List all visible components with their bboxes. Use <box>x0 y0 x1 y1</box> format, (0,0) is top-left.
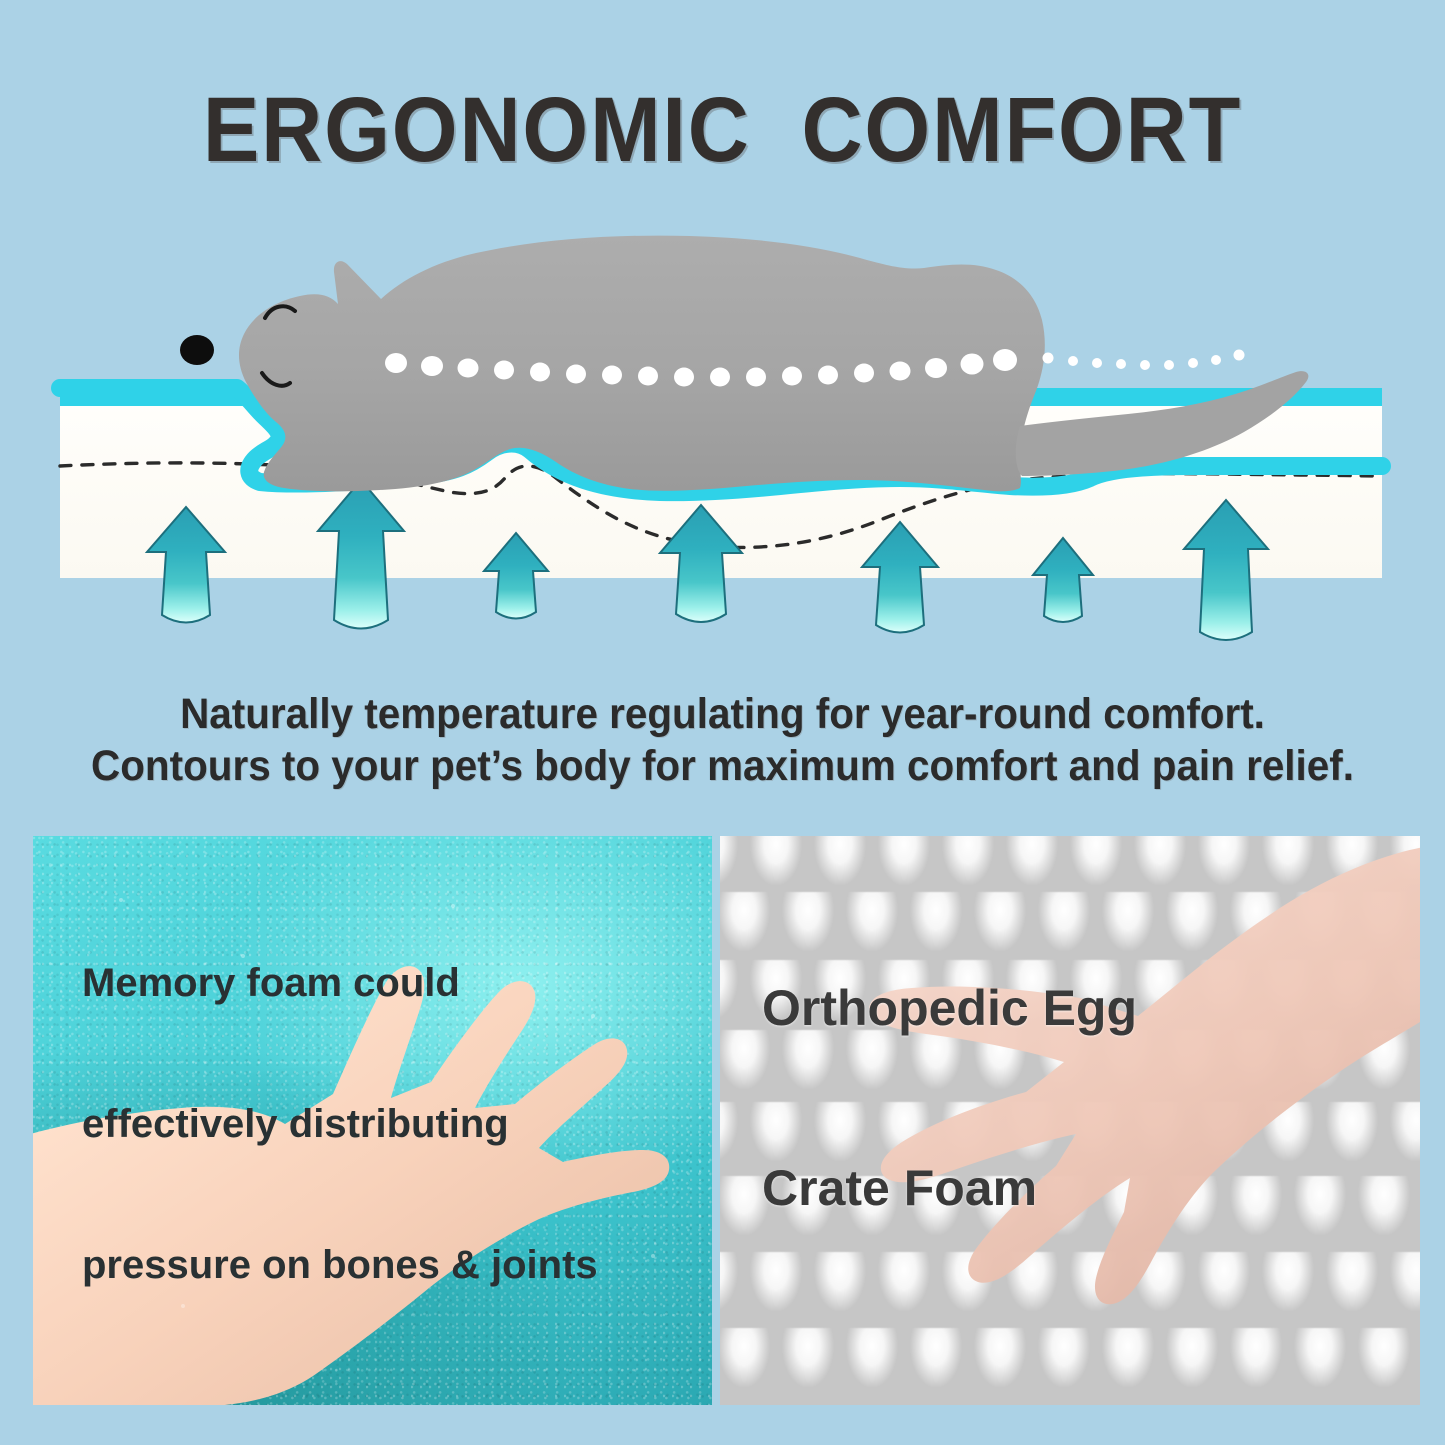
dog-silhouette <box>180 236 1308 492</box>
subcaption-line-1: Naturally temperature regulating for yea… <box>43 688 1401 740</box>
ergonomic-illustration <box>0 200 1445 670</box>
egg-crate-caption-line-2: Crate Foam <box>762 1158 1137 1218</box>
egg-crate-caption: Orthopedic Egg Crate Foam <box>762 858 1137 1338</box>
subcaption-line-2: Contours to your pet’s body for maximum … <box>43 740 1401 792</box>
memory-foam-caption-line-1: Memory foam could <box>82 960 598 1007</box>
dog-tail-dots <box>1043 350 1245 371</box>
memory-foam-caption-line-2: effectively distributing <box>82 1101 598 1148</box>
memory-foam-caption: Memory foam could effectively distributi… <box>82 866 598 1383</box>
egg-crate-caption-line-1: Orthopedic Egg <box>762 978 1137 1038</box>
dog-nose <box>180 335 214 365</box>
subcaption-block: Naturally temperature regulating for yea… <box>43 688 1401 792</box>
memory-foam-caption-line-3: pressure on bones & joints <box>82 1242 598 1289</box>
infographic-stage: ERGONOMIC COMFORT <box>0 0 1445 1445</box>
egg-crate-foam-panel: Orthopedic Egg Crate Foam <box>720 836 1420 1405</box>
page-title: ERGONOMIC COMFORT <box>58 78 1387 183</box>
memory-foam-panel: Memory foam could effectively distributi… <box>33 836 712 1405</box>
